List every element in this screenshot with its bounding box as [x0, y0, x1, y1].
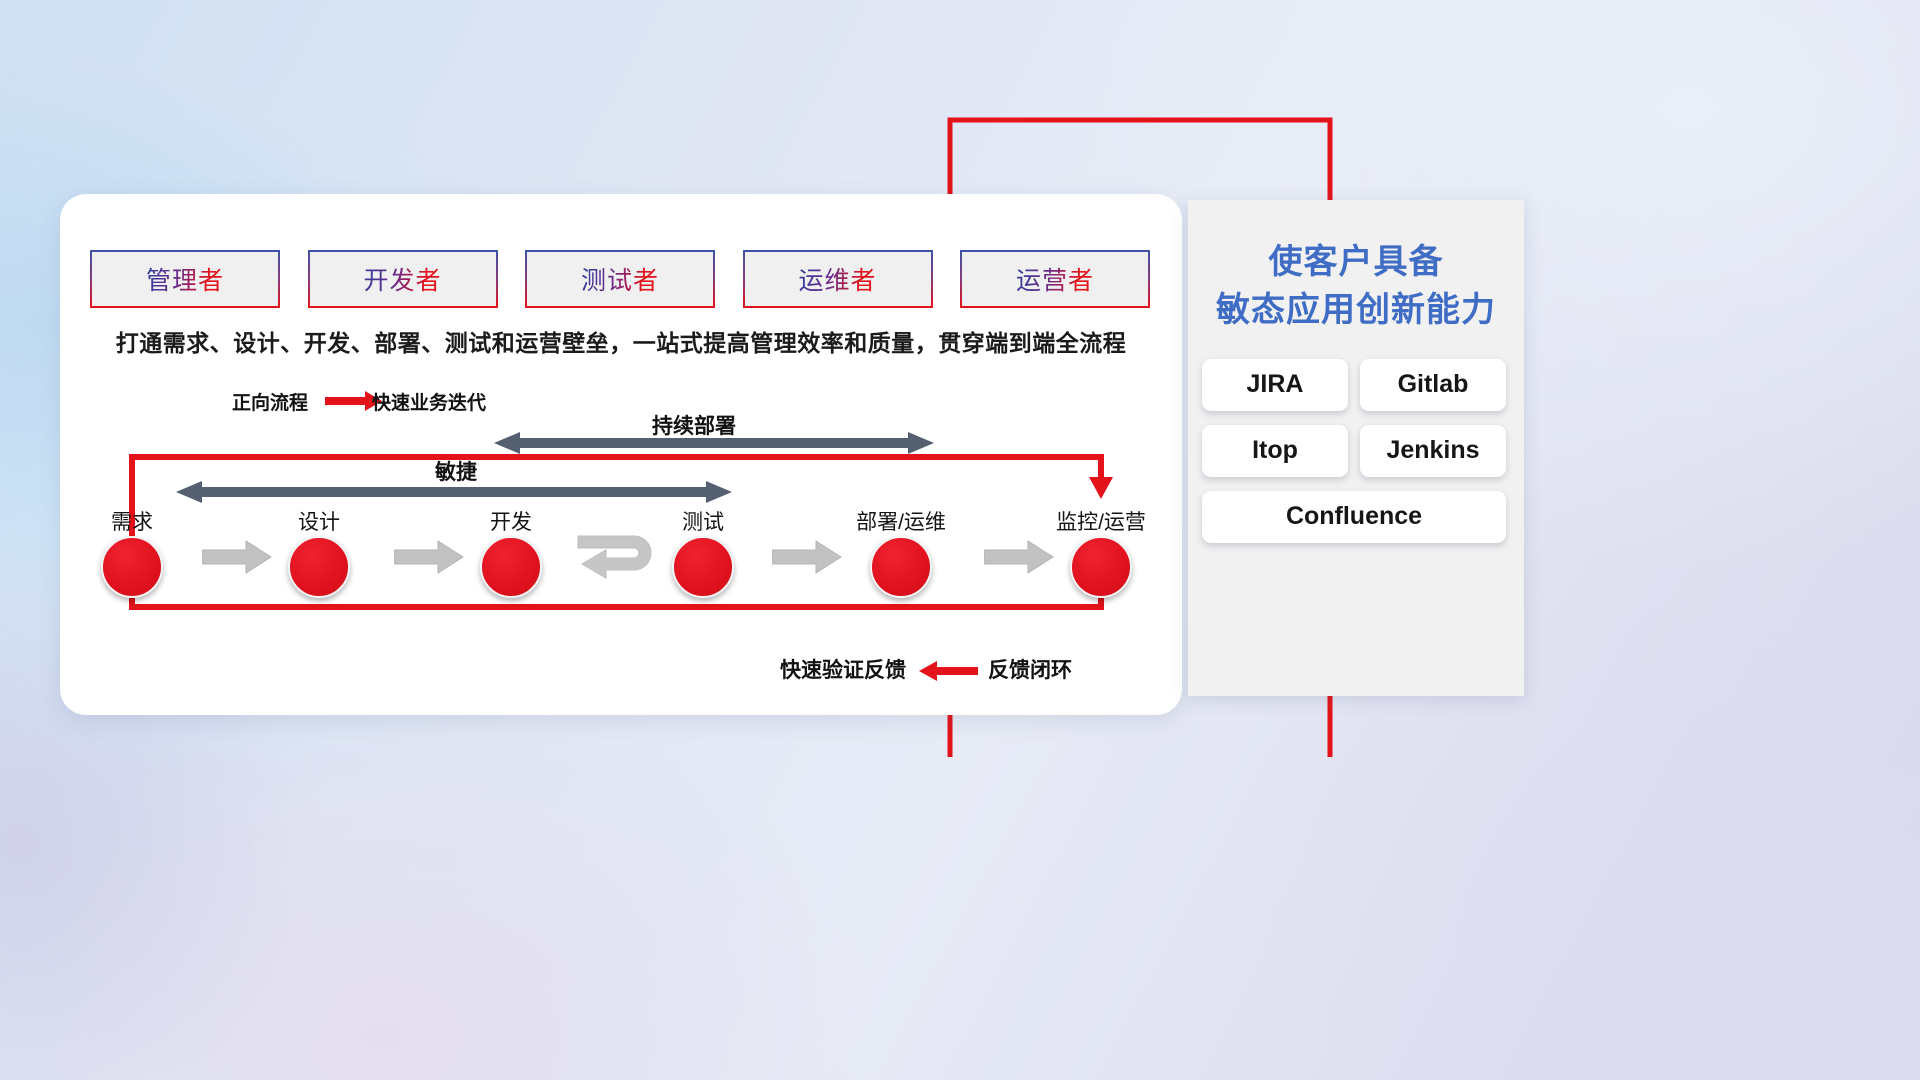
- connector-arrow-deploy-monitor: [984, 539, 1054, 575]
- node-develop[interactable]: [480, 536, 542, 598]
- tool-jira[interactable]: JIRA: [1202, 359, 1348, 411]
- node-requirement[interactable]: [101, 536, 163, 598]
- node-label-monitor-run: 监控/运营: [1056, 506, 1146, 536]
- node-test[interactable]: [672, 536, 734, 598]
- panel-title-line-1: 使客户具备: [1188, 238, 1524, 286]
- panel-title-line-2: 敏态应用创新能力: [1188, 286, 1524, 334]
- feedback-loop-path: [60, 194, 1182, 715]
- tool-gitlab[interactable]: Gitlab: [1360, 359, 1506, 411]
- feedback-arrow-icon: [916, 660, 978, 682]
- node-deploy-ops[interactable]: [870, 536, 932, 598]
- panel-title: 使客户具备 敏态应用创新能力: [1188, 238, 1524, 335]
- feedback-loop-label: 反馈闭环: [988, 654, 1072, 684]
- loop-arrow-develop-test-icon: [576, 530, 672, 586]
- main-diagram-card: 管理者 开发者 测试者 运维者 运营者 打通需求、设计、开发、部署、测试和运营壁…: [60, 194, 1182, 715]
- connector-arrow-test-deploy: [772, 539, 842, 575]
- node-monitor-run[interactable]: [1070, 536, 1132, 598]
- node-label-develop: 开发: [490, 506, 532, 536]
- tool-confluence[interactable]: Confluence: [1202, 491, 1506, 543]
- tool-itop[interactable]: Itop: [1202, 425, 1348, 477]
- node-design[interactable]: [288, 536, 350, 598]
- connector-arrow-requirement-design: [202, 539, 272, 575]
- tool-jenkins[interactable]: Jenkins: [1360, 425, 1506, 477]
- node-label-deploy-ops: 部署/运维: [856, 506, 946, 536]
- node-label-design: 设计: [298, 506, 340, 536]
- node-label-requirement: 需求: [111, 506, 153, 536]
- capability-panel: 使客户具备 敏态应用创新能力 JIRA Gitlab Itop Jenkins …: [1188, 200, 1524, 696]
- connector-arrow-design-develop: [394, 539, 464, 575]
- tool-list: JIRA Gitlab Itop Jenkins Confluence: [1202, 359, 1510, 543]
- fast-verify-feedback-label: 快速验证反馈: [780, 654, 906, 684]
- node-label-test: 测试: [682, 506, 724, 536]
